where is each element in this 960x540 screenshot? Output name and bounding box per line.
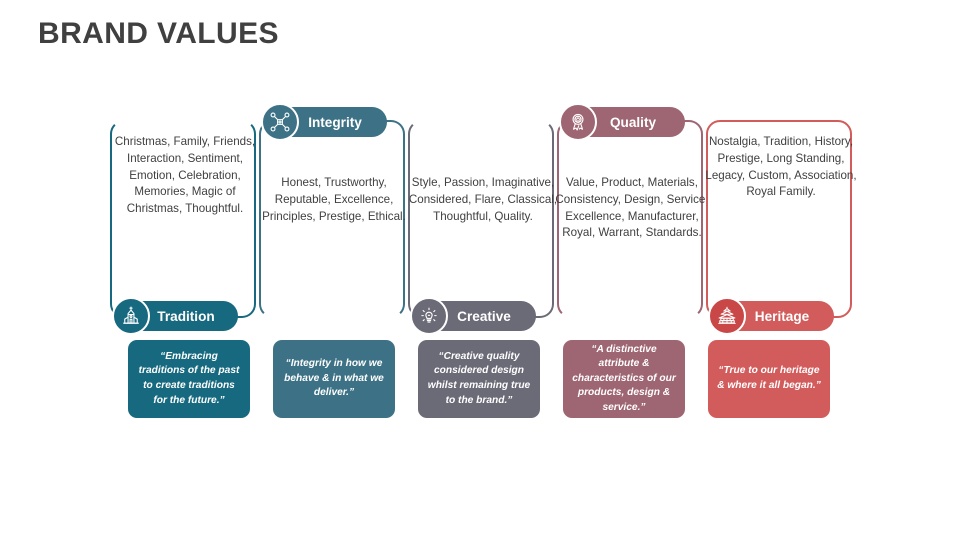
value-keywords-tradition: Christmas, Family, Friends, Interaction,… <box>108 134 262 218</box>
lightbulb-icon <box>410 297 448 335</box>
network-nodes-icon <box>261 103 299 141</box>
value-quote-box-integrity[interactable]: “Integrity in how we behave & in what we… <box>273 340 395 418</box>
value-card-integrity[interactable]: Honest, Trustworthy, Reputable, Excellen… <box>259 120 405 318</box>
value-label-pill-integrity[interactable]: Integrity <box>263 107 387 137</box>
value-quote-text-quality: “A distinctive attribute & characteristi… <box>572 343 676 416</box>
slide-canvas: BRAND VALUES Christmas, Family, Friends,… <box>0 0 960 540</box>
value-quote-text-integrity: “Integrity in how we behave & in what we… <box>282 357 386 401</box>
value-label-text-heritage: Heritage <box>744 309 820 324</box>
value-label-text-quality: Quality <box>595 115 671 130</box>
value-quote-text-creative: “Creative quality considered design whil… <box>427 350 531 408</box>
value-keywords-heritage: Nostalgia, Tradition, History, Prestige,… <box>704 134 858 201</box>
value-keywords-integrity: Honest, Trustworthy, Reputable, Excellen… <box>257 175 411 225</box>
award-rosette-icon <box>559 103 597 141</box>
value-quote-box-tradition[interactable]: “Embracing traditions of the past to cre… <box>128 340 250 418</box>
value-label-pill-creative[interactable]: Creative <box>412 301 536 331</box>
value-quote-box-quality[interactable]: “A distinctive attribute & characteristi… <box>563 340 685 418</box>
value-label-text-integrity: Integrity <box>297 115 373 130</box>
value-label-text-creative: Creative <box>446 309 522 324</box>
value-label-pill-quality[interactable]: Quality <box>561 107 685 137</box>
value-quote-text-tradition: “Embracing traditions of the past to cre… <box>137 350 241 408</box>
value-card-heritage[interactable]: Nostalgia, Tradition, History, Prestige,… <box>706 120 852 318</box>
value-quote-box-heritage[interactable]: “True to our heritage & where it all beg… <box>708 340 830 418</box>
church-icon <box>112 297 150 335</box>
value-label-pill-heritage[interactable]: Heritage <box>710 301 834 331</box>
value-label-pill-tradition[interactable]: Tradition <box>114 301 238 331</box>
value-keywords-quality: Value, Product, Materials, Consistency, … <box>555 175 709 242</box>
pagoda-building-icon <box>708 297 746 335</box>
value-keywords-creative: Style, Passion, Imaginative, Considered,… <box>406 175 560 225</box>
value-label-text-tradition: Tradition <box>148 309 224 324</box>
brand-values-card-row: Christmas, Family, Friends, Interaction,… <box>110 120 852 320</box>
value-card-creative[interactable]: Style, Passion, Imaginative, Considered,… <box>408 120 554 318</box>
value-card-tradition[interactable]: Christmas, Family, Friends, Interaction,… <box>110 120 256 318</box>
value-card-quality[interactable]: Value, Product, Materials, Consistency, … <box>557 120 703 318</box>
page-title: BRAND VALUES <box>38 17 279 51</box>
value-quote-text-heritage: “True to our heritage & where it all beg… <box>717 364 821 393</box>
value-quote-box-creative[interactable]: “Creative quality considered design whil… <box>418 340 540 418</box>
brand-values-quote-row: “Embracing traditions of the past to cre… <box>128 340 840 418</box>
